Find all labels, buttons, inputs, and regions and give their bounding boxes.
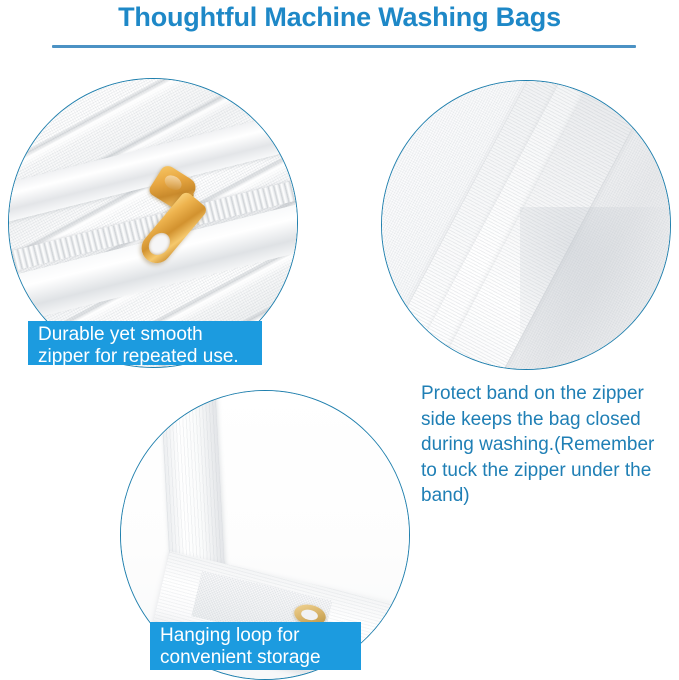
callout-hanging-loop-label: Hanging loop for convenient storage <box>150 622 361 670</box>
band-soft-shadow <box>520 207 671 370</box>
callout-protect-band-text: Protect band on the zipper side keeps th… <box>421 381 673 509</box>
title-divider <box>52 45 636 48</box>
feature-image-protect-band <box>381 80 671 370</box>
callout-zipper-label: Durable yet smooth zipper for repeated u… <box>28 321 262 365</box>
protect-band-photo-content <box>381 80 671 370</box>
zipper-pull-hole <box>144 229 174 260</box>
page-title: Thoughtful Machine Washing Bags <box>0 2 679 33</box>
